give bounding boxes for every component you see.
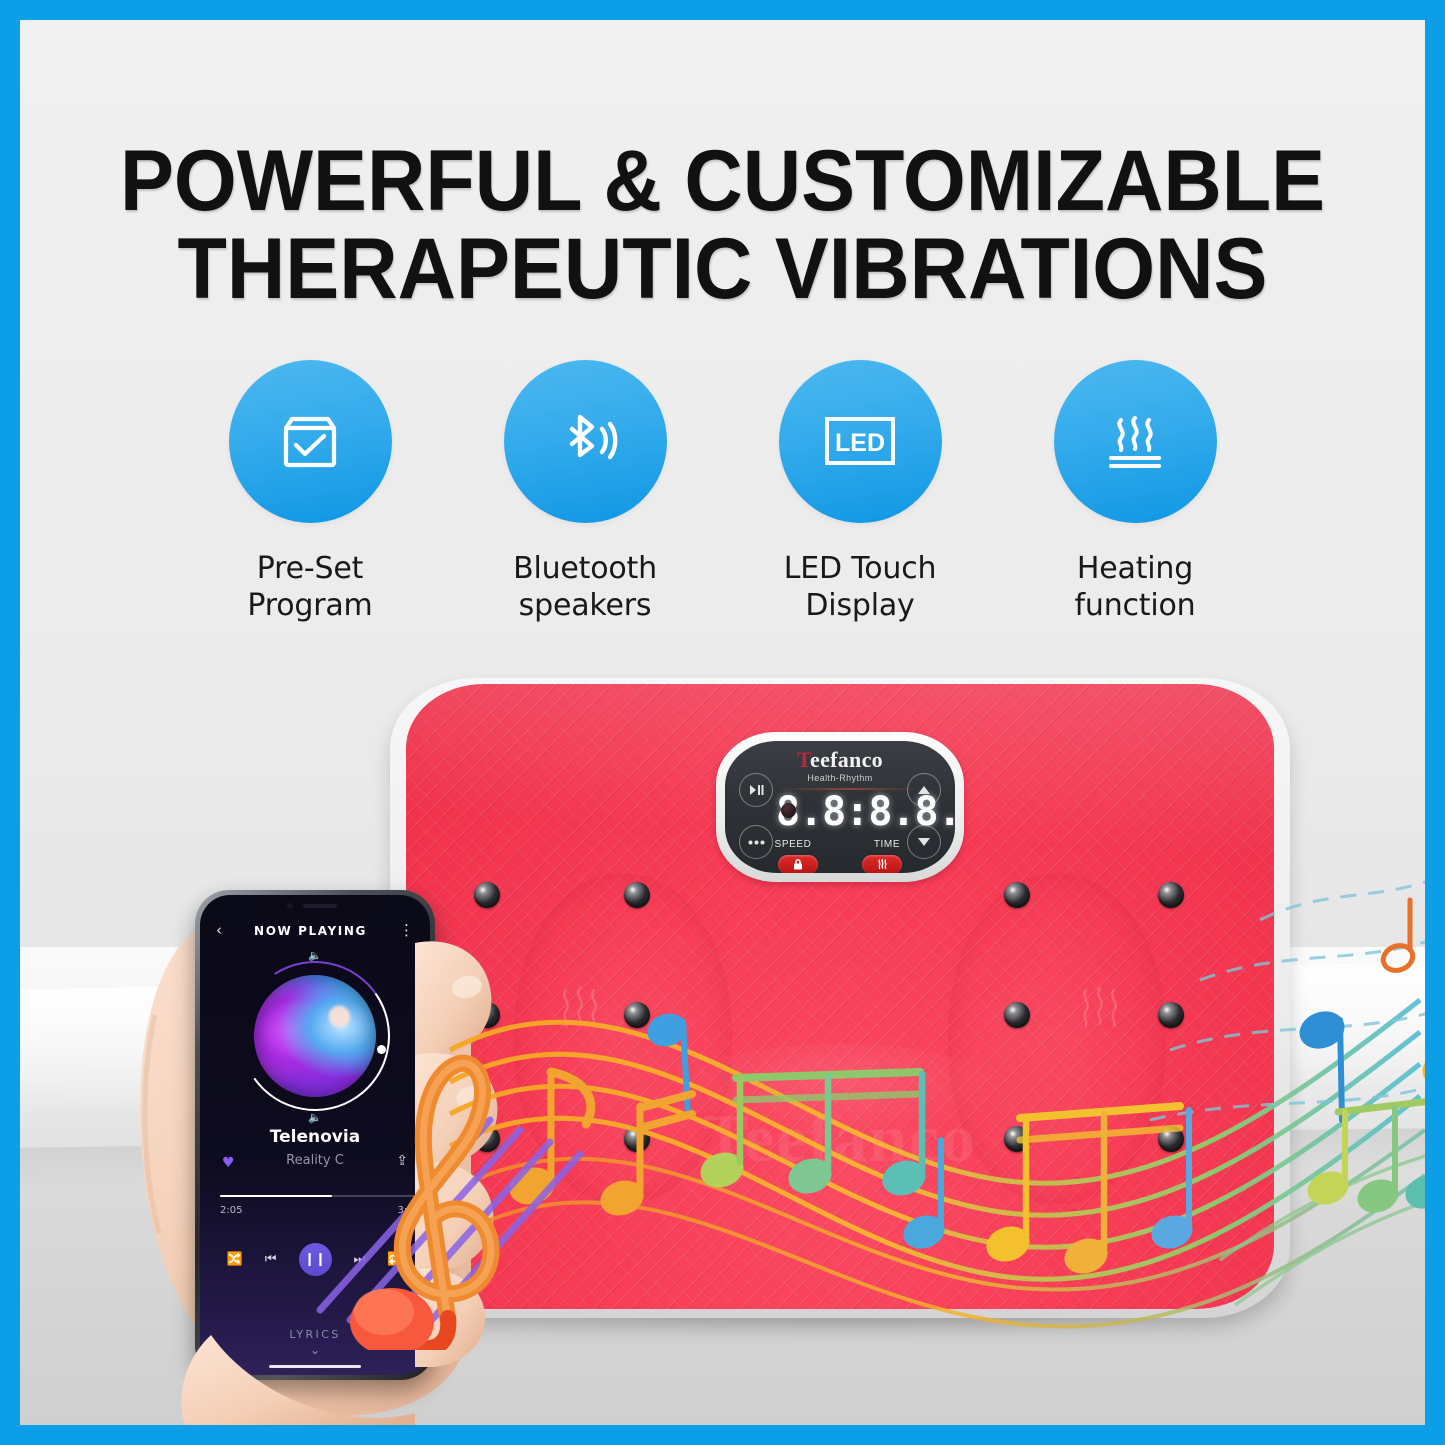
brand-initial: T xyxy=(797,747,810,772)
headline-line-2: THERAPEUTIC VIBRATIONS xyxy=(62,226,1383,314)
massage-dot xyxy=(1004,882,1030,908)
heating-waves-icon xyxy=(1054,360,1217,523)
feature-label: Bluetooth speakers xyxy=(503,551,668,624)
headline: POWERFUL & CUSTOMIZABLE THERAPEUTIC VIBR… xyxy=(20,138,1425,313)
player-header: ‹ NOW PLAYING ⋮ xyxy=(200,923,430,938)
plate-watermark: Teefanco xyxy=(703,1099,977,1178)
massage-dot xyxy=(624,882,650,908)
headline-line-1: POWERFUL & CUSTOMIZABLE xyxy=(62,138,1383,226)
volume-up-icon[interactable]: 🔈 xyxy=(308,949,322,962)
bluetooth-speaker-icon xyxy=(504,360,667,523)
heat-emboss-right xyxy=(1074,984,1126,1042)
arrow-up-icon xyxy=(917,784,931,796)
front-camera xyxy=(287,903,293,909)
feature-label-line-1: Heating xyxy=(1053,551,1218,588)
massage-dot xyxy=(1004,1002,1030,1028)
chevron-left-icon[interactable]: ‹ xyxy=(216,923,222,938)
massage-dot xyxy=(1158,1126,1184,1152)
heat-indicator[interactable] xyxy=(862,855,902,873)
massage-dot xyxy=(1158,1002,1184,1028)
poster-canvas: POWERFUL & CUSTOMIZABLE THERAPEUTIC VIBR… xyxy=(20,20,1425,1425)
foot-zone-right xyxy=(948,874,1166,1204)
massage-dot xyxy=(1158,882,1184,908)
player-title: NOW PLAYING xyxy=(254,924,367,938)
decrease-button[interactable] xyxy=(907,825,941,859)
increase-button[interactable] xyxy=(907,773,941,807)
feature-label-line-1: LED Touch xyxy=(778,551,943,588)
label-speed: SPEED xyxy=(768,839,818,850)
feature-label-line-2: Display xyxy=(778,588,943,625)
feature-label: Heating function xyxy=(1053,551,1218,624)
mode-button[interactable] xyxy=(739,825,773,859)
play-pause-button[interactable] xyxy=(739,773,773,807)
feature-label: LED Touch Display xyxy=(778,551,943,624)
product-marketing-poster: POWERFUL & CUSTOMIZABLE THERAPEUTIC VIBR… xyxy=(0,0,1445,1445)
feature-preset-program: Pre-Set Program xyxy=(228,360,393,624)
feature-label-line-1: Pre-Set xyxy=(228,551,393,588)
feature-led-touch-display: LED LED Touch Display xyxy=(778,360,943,624)
time-elapsed: 2:05 xyxy=(220,1205,242,1216)
feature-label-line-2: speakers xyxy=(503,588,668,625)
feature-label-line-2: Program xyxy=(228,588,393,625)
feature-bluetooth-speakers: Bluetooth speakers xyxy=(503,360,668,624)
massage-dot xyxy=(624,1002,650,1028)
home-indicator xyxy=(269,1365,361,1368)
led-icon-text: LED xyxy=(835,429,885,457)
progress-fill xyxy=(220,1195,332,1197)
earpiece-speaker xyxy=(303,904,337,908)
arrow-down-icon xyxy=(917,836,931,848)
feature-list: Pre-Set Program Bluetooth speakers xyxy=(20,360,1425,624)
preset-box-check-icon xyxy=(229,360,392,523)
heart-icon[interactable]: ♥ xyxy=(222,1155,235,1171)
phone-notch xyxy=(261,895,369,917)
feature-label: Pre-Set Program xyxy=(228,551,393,624)
brand-name: Teefanco xyxy=(725,749,955,771)
massage-dot xyxy=(624,1126,650,1152)
more-vertical-icon[interactable]: ⋮ xyxy=(399,923,414,938)
lock-indicator[interactable] xyxy=(778,855,818,873)
console-panel: Teefanco Health-Rhythm 8.8:8.8. SPEED TI… xyxy=(725,741,955,873)
mode-dots-icon xyxy=(748,840,765,845)
heat-icon xyxy=(876,858,889,871)
shuffle-icon[interactable]: 🔀 xyxy=(227,1252,243,1267)
feature-label-line-1: Bluetooth xyxy=(503,551,668,588)
feature-label-line-2: function xyxy=(1053,588,1218,625)
control-console[interactable]: Teefanco Health-Rhythm 8.8:8.8. SPEED TI… xyxy=(716,732,964,882)
play-pause-icon xyxy=(749,784,764,796)
treble-clef-icon xyxy=(320,1020,570,1350)
label-time: TIME xyxy=(862,839,912,850)
massage-dot xyxy=(1004,1126,1030,1152)
previous-track-icon[interactable]: ⏮ xyxy=(265,1252,277,1267)
feature-heating-function: Heating function xyxy=(1053,360,1218,624)
ir-sensor xyxy=(781,803,796,818)
led-display-icon: LED xyxy=(779,360,942,523)
lock-icon xyxy=(792,858,804,871)
